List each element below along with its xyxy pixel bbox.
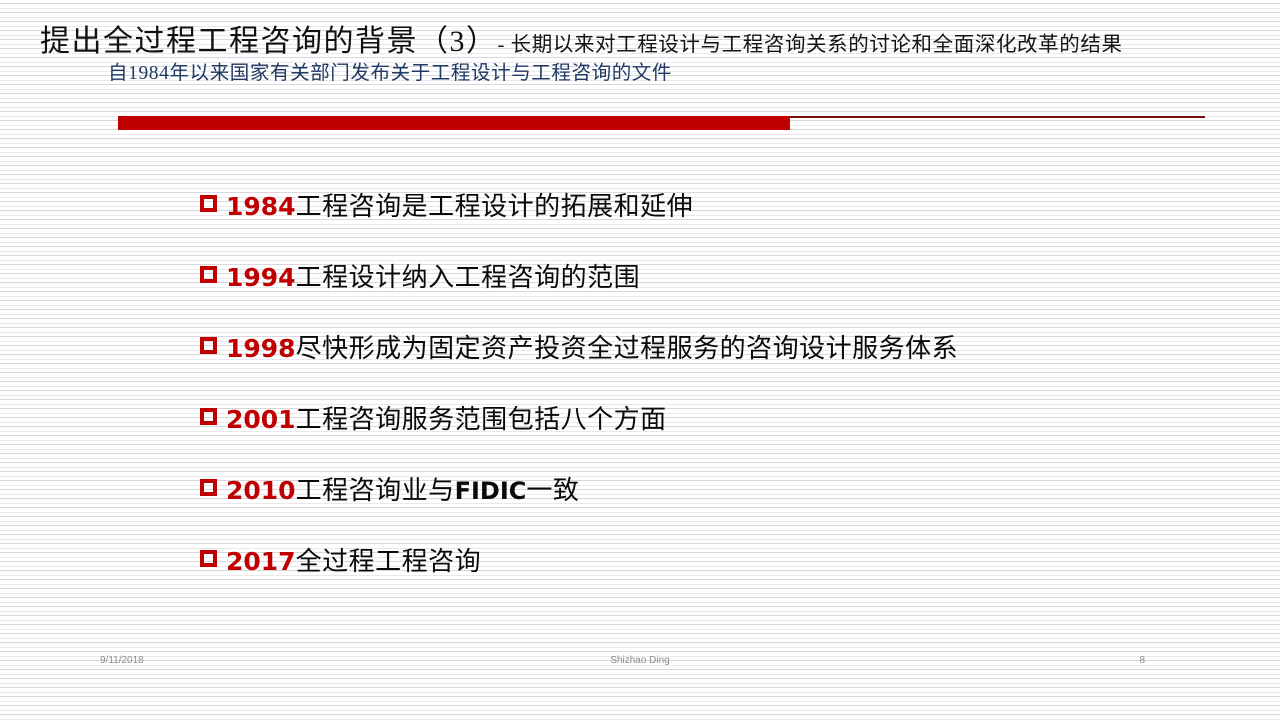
title-divider <box>0 112 1280 132</box>
list-item: 1984 工程咨询是工程设计的拓展和延伸 <box>200 186 1240 257</box>
bullet-text: 工程咨询业与FIDIC一致 <box>296 470 580 507</box>
slide-title-block: 提出全过程工程咨询的背景（3）- 长期以来对工程设计与工程咨询关系的讨论和全面深… <box>0 26 1260 85</box>
bullet-text: 工程设计纳入工程咨询的范围 <box>296 257 641 294</box>
bullet-text: 工程咨询服务范围包括八个方面 <box>296 399 667 436</box>
bullet-year: 1994 <box>226 263 296 292</box>
page-title: 提出全过程工程咨询的背景（3） <box>40 25 498 58</box>
list-item: 2001 工程咨询服务范围包括八个方面 <box>200 399 1240 470</box>
bullet-text: 尽快形成为固定资产投资全过程服务的咨询设计服务体系 <box>296 328 959 365</box>
footer-author: Shizhao Ding <box>0 655 1280 666</box>
list-item: 1998 尽快形成为固定资产投资全过程服务的咨询设计服务体系 <box>200 328 1240 399</box>
hollow-square-bullet-icon <box>200 337 217 354</box>
hollow-square-bullet-icon <box>200 266 217 283</box>
bullet-text-after: 一致 <box>526 476 579 505</box>
bullet-year: 2010 <box>226 476 296 505</box>
bullet-text-before: 工程咨询业与 <box>296 476 455 505</box>
bullet-list: 1984 工程咨询是工程设计的拓展和延伸 1994 工程设计纳入工程咨询的范围 … <box>200 186 1240 612</box>
title-dash-note: - 长期以来对工程设计与工程咨询关系的讨论和全面深化改革的结果 <box>498 34 1123 56</box>
bullet-year: 1984 <box>226 192 296 221</box>
bullet-text-latin: FIDIC <box>455 477 527 505</box>
hollow-square-bullet-icon <box>200 479 217 496</box>
hollow-square-bullet-icon <box>200 550 217 567</box>
list-item: 1994 工程设计纳入工程咨询的范围 <box>200 257 1240 328</box>
slide-footer: 9/11/2018 Shizhao Ding 8 <box>0 655 1280 675</box>
footer-page-number: 8 <box>1139 655 1145 666</box>
bullet-year: 2001 <box>226 405 296 434</box>
hollow-square-bullet-icon <box>200 195 217 212</box>
bullet-text: 工程咨询是工程设计的拓展和延伸 <box>296 186 694 223</box>
bullet-text: 全过程工程咨询 <box>296 541 482 578</box>
title-subtitle: 自1984年以来国家有关部门发布关于工程设计与工程咨询的文件 <box>0 63 1260 84</box>
bullet-year: 1998 <box>226 334 296 363</box>
list-item: 2010 工程咨询业与FIDIC一致 <box>200 470 1240 541</box>
divider-thick-bar <box>118 116 790 130</box>
hollow-square-bullet-icon <box>200 408 217 425</box>
bullet-year: 2017 <box>226 547 296 576</box>
list-item: 2017 全过程工程咨询 <box>200 541 1240 612</box>
slide-canvas: 提出全过程工程咨询的背景（3）- 长期以来对工程设计与工程咨询关系的讨论和全面深… <box>0 0 1280 720</box>
title-line-primary: 提出全过程工程咨询的背景（3）- 长期以来对工程设计与工程咨询关系的讨论和全面深… <box>0 26 1260 58</box>
